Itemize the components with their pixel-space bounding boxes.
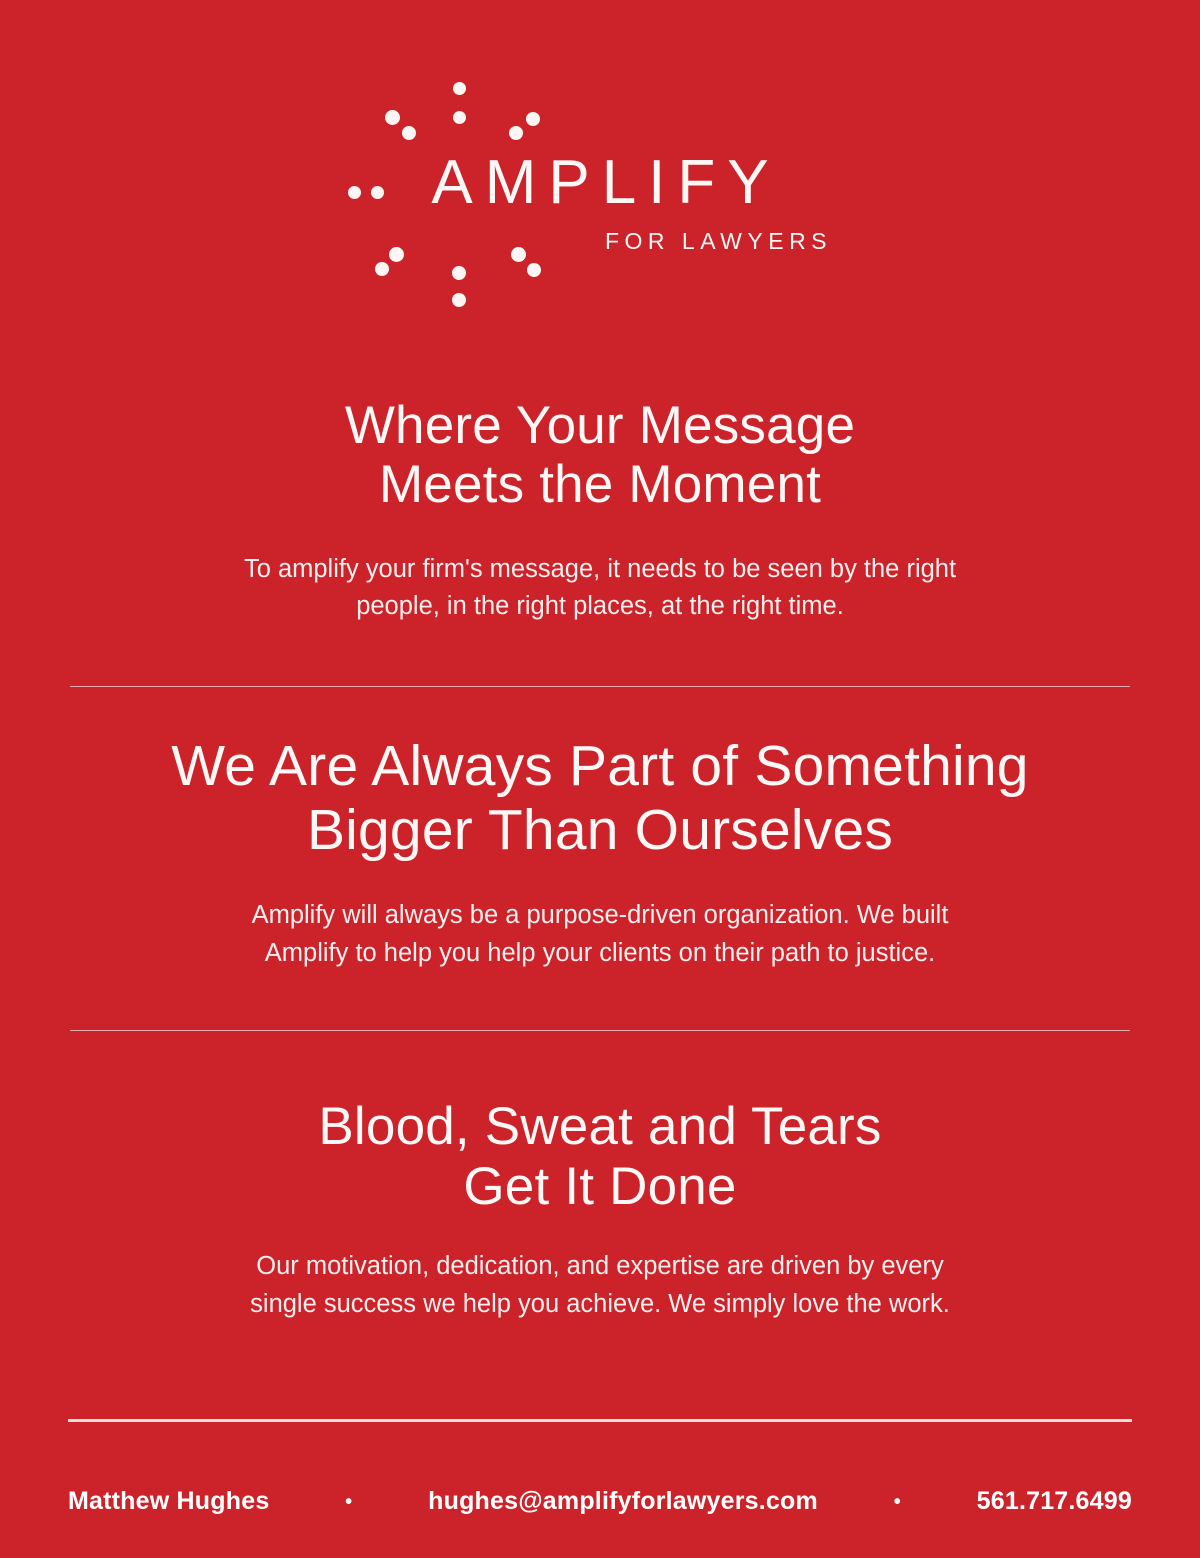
footer-bullet-separator-2-icon: • [894, 1492, 901, 1512]
section-1-body: To amplify your firm's message, it needs… [60, 551, 1140, 626]
section-where-your-message: Where Your Message Meets the Moment To a… [0, 330, 1200, 626]
logo-dot-4 [402, 126, 416, 140]
section-2-title-line-2: Bigger Than Ourselves [307, 798, 893, 862]
section-1-title-line-2: Meets the Moment [379, 455, 821, 514]
footer-block: Matthew Hughes • hughes@amplifyforlawyer… [0, 1419, 1200, 1558]
logo-dot-13 [452, 266, 466, 280]
section-2-body: Amplify will always be a purpose-driven … [60, 897, 1140, 972]
logo-wordmark: AMPLIFY FOR LAWYERS [0, 152, 1200, 253]
section-2-body-line-1: Amplify will always be a purpose-driven … [252, 901, 949, 929]
logo-dot-2 [453, 111, 466, 124]
section-divider-1 [70, 686, 1130, 687]
logo-dot-3 [385, 110, 400, 125]
section-1-title: Where Your Message Meets the Moment [60, 396, 1140, 515]
flyer-page: AMPLIFY FOR LAWYERS Where Your Message M… [0, 0, 1200, 1558]
section-2-title: We Are Always Part of Something Bigger T… [60, 735, 1140, 863]
footer-bullet-separator-icon: • [345, 1492, 352, 1512]
footer-contact-email[interactable]: hughes@amplifyforlawyers.com [428, 1487, 818, 1516]
section-1-title-line-1: Where Your Message [345, 396, 855, 455]
logo-dot-12 [527, 263, 541, 277]
section-3-body-line-1: Our motivation, dedication, and expertis… [256, 1252, 943, 1280]
section-3-body-line-2: single success we help you achieve. We s… [250, 1290, 950, 1318]
logo-dot-5 [526, 112, 540, 126]
section-divider-2 [70, 1030, 1130, 1031]
section-3-title: Blood, Sweat and Tears Get It Done [60, 1097, 1140, 1216]
logo-dot-6 [509, 126, 523, 140]
section-3-title-line-1: Blood, Sweat and Tears [318, 1097, 881, 1156]
content-sections: Where Your Message Meets the Moment To a… [0, 330, 1200, 1419]
footer-contact-bar: Matthew Hughes • hughes@amplifyforlawyer… [68, 1422, 1132, 1516]
section-bigger-than-ourselves: We Are Always Part of Something Bigger T… [0, 687, 1200, 972]
section-blood-sweat-and-tears: Blood, Sweat and Tears Get It Done Our m… [0, 1031, 1200, 1323]
section-1-body-line-2: people, in the right places, at the righ… [356, 592, 844, 620]
section-3-title-line-2: Get It Done [463, 1157, 736, 1216]
section-2-title-line-1: We Are Always Part of Something [171, 734, 1028, 798]
footer-contact-name: Matthew Hughes [68, 1487, 269, 1516]
section-1-body-line-1: To amplify your firm's message, it needs… [244, 555, 956, 583]
logo-dot-10 [375, 262, 389, 276]
logo-tagline-text: FOR LAWYERS [232, 230, 1200, 253]
logo-dot-14 [452, 293, 466, 307]
logo-wordmark-text: AMPLIFY [0, 152, 1200, 214]
footer-contact-phone[interactable]: 561.717.6499 [977, 1487, 1132, 1516]
section-3-body: Our motivation, dedication, and expertis… [60, 1248, 1140, 1323]
logo-dot-1 [453, 82, 466, 95]
section-2-body-line-2: Amplify to help you help your clients on… [265, 939, 935, 967]
logo-block: AMPLIFY FOR LAWYERS [0, 0, 1200, 330]
